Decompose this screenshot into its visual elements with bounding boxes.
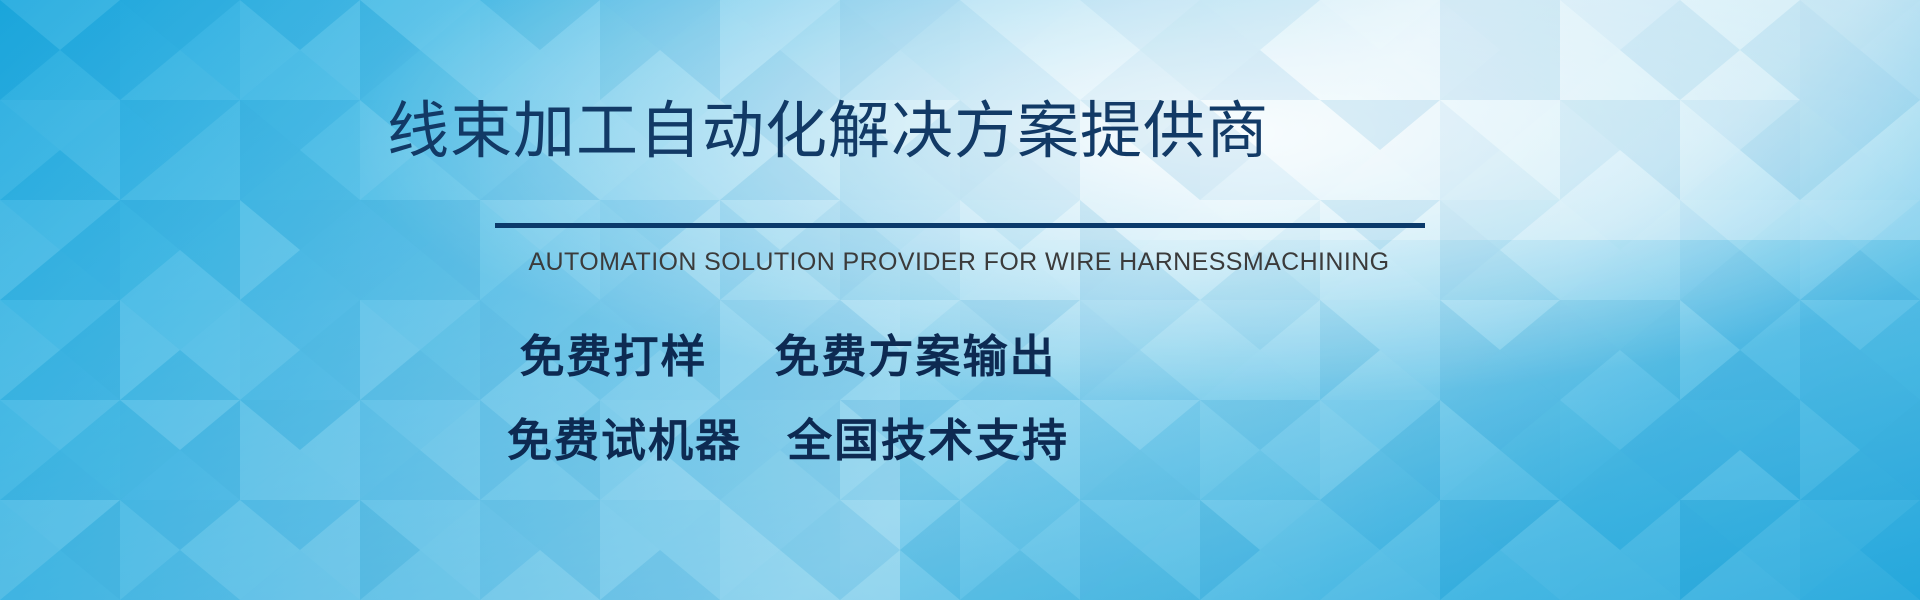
subtitle: AUTOMATION SOLUTION PROVIDER FOR WIRE HA… [0, 247, 1920, 277]
tagline-1-left: 免费打样 [519, 331, 707, 382]
tagline-row-1: 免费打样 免费方案输出 [0, 320, 1920, 385]
subtitle-text: AUTOMATION SOLUTION PROVIDER FOR WIRE HA… [528, 247, 1389, 277]
tagline-2-right: 全国技术支持 [787, 415, 1069, 466]
page-title: 线束加工自动化解决方案提供商 [0, 99, 1920, 164]
tagline-1-right: 免费方案输出 [775, 331, 1057, 382]
hero-banner: 线束加工自动化解决方案提供商 AUTOMATION SOLUTION PROVI… [0, 0, 1920, 600]
title-divider [495, 223, 1425, 228]
tagline-2-left: 免费试机器 [507, 415, 742, 466]
tagline-row-2: 免费试机器 全国技术支持 [0, 404, 1920, 469]
page-title-text: 线束加工自动化解决方案提供商 [387, 99, 1269, 164]
